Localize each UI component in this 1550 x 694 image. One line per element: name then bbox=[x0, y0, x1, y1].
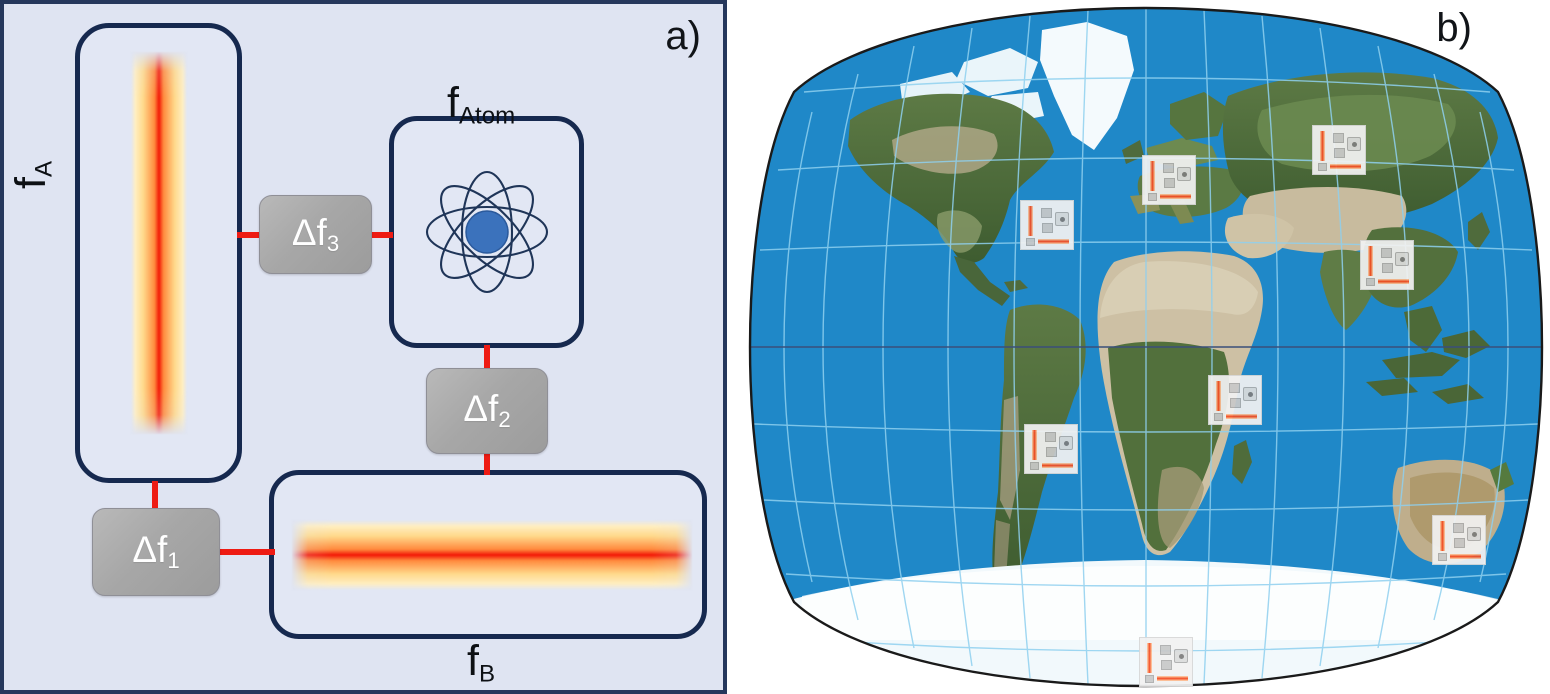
delta-node-icon bbox=[1045, 432, 1056, 442]
globe-ocean bbox=[742, 0, 1550, 694]
delta-f1-label: Δf1 bbox=[132, 531, 179, 572]
laser-beam-horizontal-icon bbox=[1330, 164, 1361, 169]
delta-node-icon bbox=[1318, 163, 1327, 171]
laser-beam-horizontal-icon bbox=[1160, 194, 1191, 199]
cavity-b-label-sub: B bbox=[479, 660, 495, 687]
delta-node-icon bbox=[1041, 208, 1052, 218]
laser-beam-vertical-icon bbox=[1147, 643, 1152, 673]
laser-beam-horizontal-icon bbox=[1226, 414, 1257, 419]
cavity-b-label-symbol: f bbox=[467, 637, 479, 685]
laser-beam-vertical-icon bbox=[1368, 246, 1373, 276]
delta-f3-label: Δf3 bbox=[292, 214, 339, 255]
delta-node-icon bbox=[1381, 248, 1392, 258]
atom-nucleus-icon bbox=[1472, 532, 1477, 537]
globe-svg bbox=[742, 0, 1550, 694]
cavity-a-label-symbol: f bbox=[7, 177, 55, 189]
delta-f3-symbol: Δf bbox=[292, 212, 327, 253]
atom-icon bbox=[412, 157, 562, 307]
delta-f2-node[interactable]: Δf2 bbox=[426, 368, 548, 454]
cavity-a-box[interactable] bbox=[75, 23, 242, 483]
station-australia[interactable] bbox=[1432, 515, 1486, 565]
atom-nucleus-icon bbox=[466, 211, 508, 253]
laser-beam-vertical-icon bbox=[1440, 521, 1445, 551]
delta-node-icon bbox=[1026, 238, 1035, 246]
panel-b: b) bbox=[742, 0, 1550, 694]
delta-node-icon bbox=[1161, 660, 1172, 670]
delta-node-icon bbox=[1145, 675, 1154, 683]
laser-beam-horizontal-icon bbox=[1378, 279, 1409, 284]
delta-f1-node[interactable]: Δf1 bbox=[92, 508, 220, 596]
station-africa[interactable] bbox=[1208, 375, 1262, 425]
station-europe[interactable] bbox=[1142, 155, 1196, 205]
figure-root: a) fA fAtom bbox=[0, 0, 1550, 694]
link-delta-f2-to-cavity-b bbox=[484, 451, 490, 475]
station-south-america[interactable] bbox=[1024, 424, 1078, 474]
laser-beam-vertical-icon bbox=[131, 52, 187, 434]
delta-node-icon bbox=[1163, 163, 1174, 173]
laser-beam-vertical-icon bbox=[1028, 206, 1033, 236]
delta-node-icon bbox=[1382, 263, 1393, 273]
delta-f2-symbol: Δf bbox=[463, 388, 498, 429]
atom-reference-label-sub: Atom bbox=[459, 102, 515, 129]
delta-f2-label: Δf2 bbox=[463, 390, 510, 431]
atom-reference-label: fAtom bbox=[447, 82, 515, 128]
delta-node-icon bbox=[1030, 462, 1039, 470]
station-south-asia[interactable] bbox=[1360, 240, 1414, 290]
station-north-america[interactable] bbox=[1020, 200, 1074, 250]
cavity-b-label: fB bbox=[467, 640, 495, 686]
link-delta-f1-to-cavity-b bbox=[217, 549, 275, 555]
panel-a: a) fA fAtom bbox=[0, 0, 727, 694]
delta-node-icon bbox=[1160, 645, 1171, 655]
laser-beam-horizontal-icon bbox=[1450, 554, 1481, 559]
cavity-b-box[interactable] bbox=[269, 470, 707, 639]
delta-node-icon bbox=[1453, 523, 1464, 533]
atom-nucleus-icon bbox=[1060, 217, 1065, 222]
delta-node-icon bbox=[1229, 383, 1240, 393]
delta-node-icon bbox=[1333, 133, 1344, 143]
atom-nucleus-icon bbox=[1064, 441, 1069, 446]
delta-node-icon bbox=[1334, 148, 1345, 158]
laser-beam-horizontal-icon bbox=[1157, 676, 1188, 681]
delta-node-icon bbox=[1164, 178, 1175, 188]
delta-f3-node[interactable]: Δf3 bbox=[259, 195, 372, 274]
laser-beam-horizontal-icon bbox=[292, 520, 692, 590]
atom-reference-label-symbol: f bbox=[447, 79, 459, 127]
atom-reference-box[interactable] bbox=[389, 116, 584, 348]
atom-nucleus-icon bbox=[1352, 142, 1357, 147]
laser-beam-vertical-icon bbox=[1150, 161, 1155, 191]
laser-beam-vertical-icon bbox=[1032, 430, 1037, 460]
panel-a-label: a) bbox=[665, 16, 701, 56]
globe-map[interactable] bbox=[742, 0, 1550, 694]
laser-beam-vertical-icon bbox=[1320, 131, 1325, 161]
delta-node-icon bbox=[1042, 223, 1053, 233]
station-antarctica[interactable] bbox=[1139, 637, 1193, 687]
laser-beam-vertical-icon bbox=[1216, 381, 1221, 411]
delta-node-icon bbox=[1214, 413, 1223, 421]
link-delta-f3-to-atom bbox=[369, 232, 393, 238]
delta-node-icon bbox=[1454, 538, 1465, 548]
atom-nucleus-icon bbox=[1182, 172, 1187, 177]
delta-f3-index: 3 bbox=[327, 231, 339, 256]
delta-f1-symbol: Δf bbox=[132, 529, 167, 570]
delta-f2-index: 2 bbox=[498, 408, 510, 433]
link-cavity-a-to-delta-f1 bbox=[152, 481, 158, 511]
cavity-a-label: fA bbox=[10, 161, 56, 189]
station-north-asia[interactable] bbox=[1312, 125, 1366, 175]
atom-nucleus-icon bbox=[1400, 257, 1405, 262]
cavity-a-label-sub: A bbox=[30, 161, 57, 177]
delta-node-icon bbox=[1148, 193, 1157, 201]
atom-nucleus-icon bbox=[1248, 392, 1253, 397]
delta-node-icon bbox=[1438, 553, 1447, 561]
laser-beam-horizontal-icon bbox=[1038, 239, 1069, 244]
atom-nucleus-icon bbox=[1179, 654, 1184, 659]
laser-beam-horizontal-icon bbox=[1042, 463, 1073, 468]
delta-node-icon bbox=[1046, 447, 1057, 457]
delta-node-icon bbox=[1230, 398, 1241, 408]
delta-f1-index: 1 bbox=[167, 549, 179, 574]
delta-node-icon bbox=[1366, 278, 1375, 286]
